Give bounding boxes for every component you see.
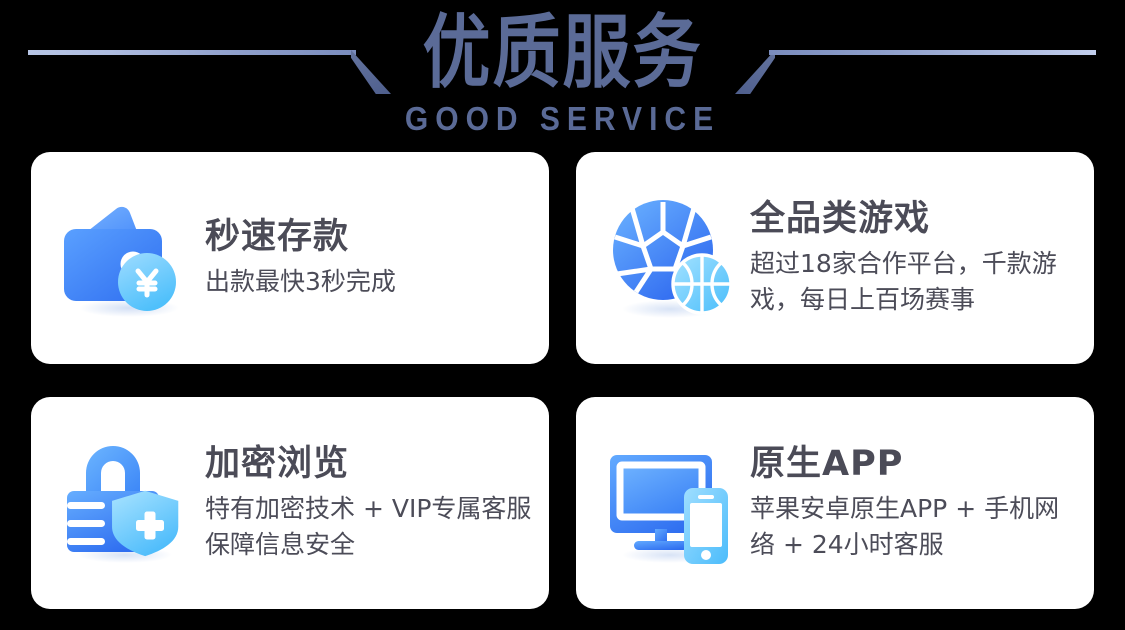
card-title: 全品类游戏 [750,199,1080,239]
page-subtitle: GOOD SERVICE [0,101,1125,139]
card-subtitle: 特有加密技术 + VIP专属客服保障信息安全 [205,491,535,563]
feature-card-games[interactable]: 全品类游戏 超过18家合作平台，千款游戏，每日上百场赛事 [576,152,1094,364]
monitor-phone-icon [604,437,736,569]
wallet-yen-icon [59,192,191,324]
section-header: 优质服务 GOOD SERVICE [0,0,1125,148]
card-subtitle: 苹果安卓原生APP + 手机网络 + 24小时客服 [750,491,1080,563]
lock-shield-icon [59,437,191,569]
card-title: 原生APP [750,444,1080,484]
good-service-panel: 优质服务 GOOD SERVICE [0,0,1125,630]
card-text-block: 秒速存款 出款最快3秒完成 [205,217,549,300]
page-title: 优质服务 [0,8,1125,100]
card-title: 加密浏览 [205,444,535,484]
feature-card-grid: 秒速存款 出款最快3秒完成 [31,152,1094,597]
card-text-block: 全品类游戏 超过18家合作平台，千款游戏，每日上百场赛事 [750,199,1094,318]
soccer-basketball-icon [604,192,736,324]
card-text-block: 原生APP 苹果安卓原生APP + 手机网络 + 24小时客服 [750,444,1094,563]
feature-card-native-app[interactable]: 原生APP 苹果安卓原生APP + 手机网络 + 24小时客服 [576,397,1094,609]
card-title: 秒速存款 [205,217,535,257]
card-subtitle: 出款最快3秒完成 [205,264,535,300]
feature-card-deposit[interactable]: 秒速存款 出款最快3秒完成 [31,152,549,364]
feature-card-encryption[interactable]: 加密浏览 特有加密技术 + VIP专属客服保障信息安全 [31,397,549,609]
card-text-block: 加密浏览 特有加密技术 + VIP专属客服保障信息安全 [205,444,549,563]
card-subtitle: 超过18家合作平台，千款游戏，每日上百场赛事 [750,246,1080,318]
